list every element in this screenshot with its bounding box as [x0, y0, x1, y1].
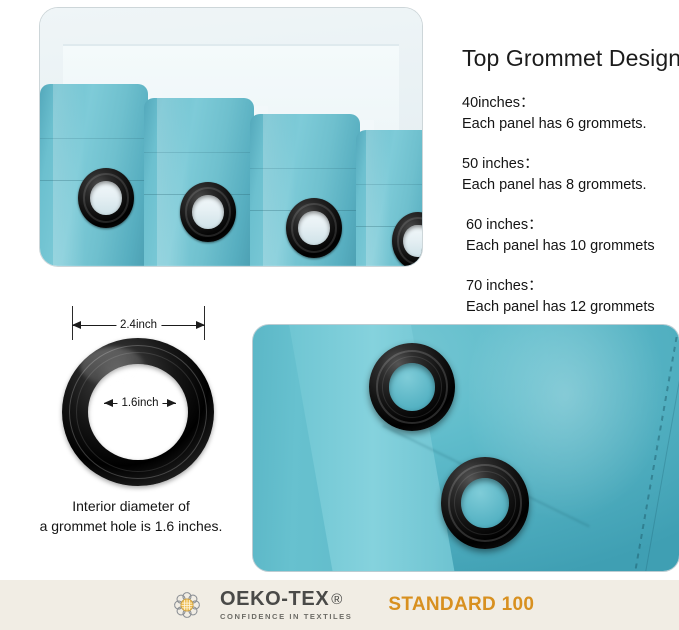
- spec-size: 40inches：: [462, 93, 677, 114]
- oeko-tex-wordmark: OEKO-TEX ® CONFIDENCE IN TEXTILES: [220, 589, 352, 621]
- grommet-icon: [286, 198, 342, 258]
- grommet-icon: [369, 343, 455, 431]
- grommet-ring-illustration: [62, 338, 214, 486]
- spec-detail: Each panel has 10 grommets: [466, 236, 677, 257]
- spec-size: 60 inches：: [466, 215, 677, 236]
- arrow-head-left-icon: [72, 321, 81, 329]
- outer-dimension-label: 2.4inch: [116, 319, 161, 331]
- brand-name: OEKO-TEX: [220, 589, 329, 609]
- fabric-hem: [250, 168, 360, 169]
- caption-line-2: a grommet hole is 1.6 inches.: [22, 516, 240, 536]
- spec-group-40: 40inches： Each panel has 6 grommets.: [462, 93, 677, 135]
- arrow-head-right-icon: [167, 399, 176, 407]
- outer-dimension-arrow: 2.4inch: [72, 317, 205, 333]
- curtain-panel-photo: [40, 8, 422, 266]
- oeko-tex-footer: OEKO-TEX ® CONFIDENCE IN TEXTILES STANDA…: [0, 580, 679, 630]
- arrow-head-left-icon: [104, 399, 113, 407]
- certification-badge: OEKO-TEX ® CONFIDENCE IN TEXTILES STANDA…: [168, 586, 534, 624]
- spec-title: Top Grommet Design: [462, 46, 677, 71]
- inner-dimension-label: 1.6inch: [117, 397, 162, 409]
- ring-gloss: [80, 347, 144, 385]
- spec-size: 50 inches：: [462, 154, 677, 175]
- grommet-dimension-diagram: 2.4inch 1.6inch Interior diameter of a g…: [22, 300, 240, 540]
- oeko-tex-flower-icon: [168, 586, 206, 624]
- spec-detail: Each panel has 12 grommets: [466, 297, 677, 318]
- fabric-hem: [40, 138, 148, 139]
- diagram-caption: Interior diameter of a grommet hole is 1…: [22, 496, 240, 537]
- fabric-sheen: [53, 84, 85, 266]
- fabric-hem: [144, 152, 254, 153]
- spec-group-70: 70 inches： Each panel has 12 grommets: [462, 276, 677, 318]
- fabric-hem: [356, 184, 422, 185]
- spec-group-50: 50 inches： Each panel has 8 grommets.: [462, 154, 677, 196]
- curtain-fold: [144, 98, 254, 266]
- fabric-sheen: [157, 98, 190, 266]
- spec-group-60: 60 inches： Each panel has 10 grommets: [462, 215, 677, 257]
- fabric-sheen: [366, 130, 390, 266]
- grommet-icon: [180, 182, 236, 242]
- grommet-icon: [441, 457, 529, 549]
- spec-size: 70 inches：: [466, 276, 677, 297]
- fabric-closeup-photo: [253, 325, 679, 571]
- curtain-folds: [40, 76, 422, 266]
- grommet-spec-block: Top Grommet Design 40inches： Each panel …: [462, 46, 677, 337]
- standard-label: STANDARD 100: [388, 594, 534, 616]
- grommet-rim-inner: [382, 356, 442, 418]
- inner-dimension-arrow: 1.6inch: [104, 395, 176, 411]
- brand-tagline: CONFIDENCE IN TEXTILES: [220, 613, 352, 621]
- grommet-icon: [78, 168, 134, 228]
- spec-detail: Each panel has 6 grommets.: [462, 114, 677, 135]
- caption-line-1: Interior diameter of: [22, 496, 240, 516]
- spec-detail: Each panel has 8 grommets.: [462, 175, 677, 196]
- registered-mark: ®: [331, 592, 343, 607]
- arrow-head-right-icon: [196, 321, 205, 329]
- grommet-rim-inner: [454, 471, 516, 535]
- brand-name-row: OEKO-TEX ®: [220, 589, 352, 609]
